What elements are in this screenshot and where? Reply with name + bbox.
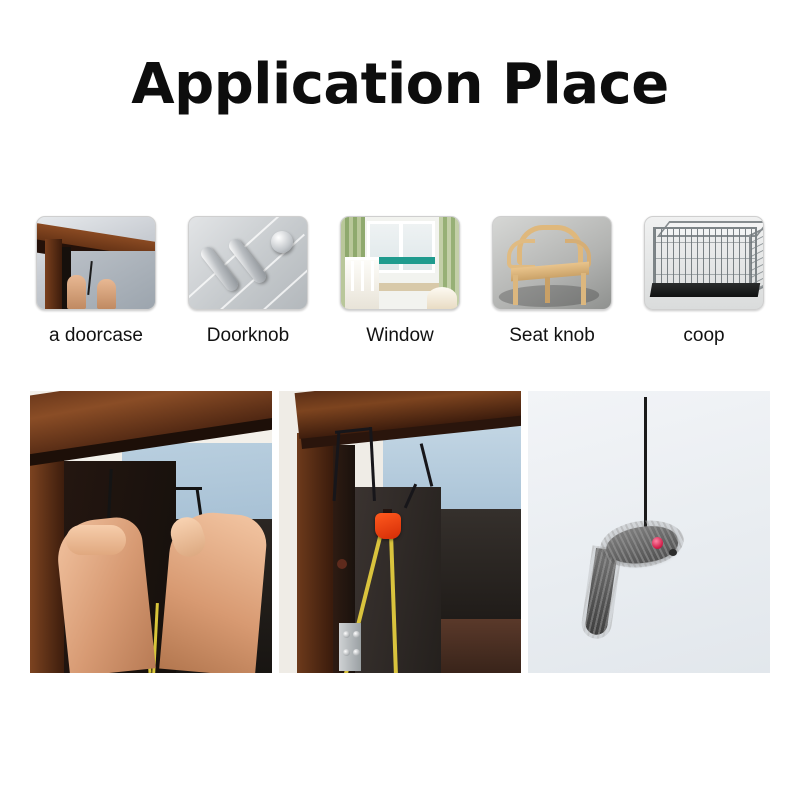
- application-place-label: Doorknob: [207, 325, 289, 347]
- application-place-item-seat-knob[interactable]: Seat knob: [476, 216, 628, 347]
- application-place-label: coop: [683, 325, 724, 347]
- application-place-label: Window: [366, 325, 434, 347]
- application-place-label: Seat knob: [509, 325, 595, 347]
- hanging-mouse-toy-photo[interactable]: [528, 391, 770, 673]
- application-place-item-doorcase[interactable]: a doorcase: [20, 216, 172, 347]
- door-frame-icon: [36, 216, 156, 310]
- application-place-item-window[interactable]: Window: [324, 216, 476, 347]
- application-place-item-coop[interactable]: coop: [628, 216, 780, 347]
- window-icon: [340, 216, 460, 310]
- hands-installing-hanger-photo[interactable]: [30, 391, 272, 673]
- demo-photo-row: [30, 391, 770, 673]
- application-place-label: a doorcase: [49, 325, 143, 347]
- pet-cage-icon: [644, 216, 764, 310]
- installed-hanger-clip-photo[interactable]: [279, 391, 521, 673]
- chair-icon: [492, 216, 612, 310]
- page-title: Application Place: [0, 52, 800, 117]
- door-handle-icon: [188, 216, 308, 310]
- application-place-list: a doorcase Doorknob Window: [20, 216, 780, 347]
- application-place-item-doorknob[interactable]: Doorknob: [172, 216, 324, 347]
